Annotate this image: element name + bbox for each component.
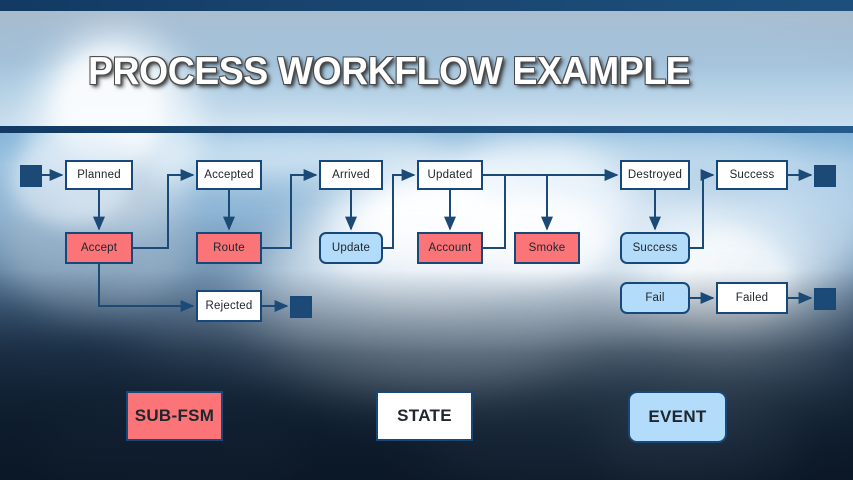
node-planned[interactable]: Planned — [65, 160, 133, 190]
node-updated[interactable]: Updated — [417, 160, 483, 190]
start-terminal[interactable] — [20, 165, 42, 187]
node-arrived[interactable]: Arrived — [319, 160, 383, 190]
end-terminal-rejected[interactable] — [290, 296, 312, 318]
node-fail-event[interactable]: Fail — [620, 282, 690, 314]
node-update[interactable]: Update — [319, 232, 383, 264]
node-failed-state[interactable]: Failed — [716, 282, 788, 314]
end-terminal-success[interactable] — [814, 165, 836, 187]
node-success-event[interactable]: Success — [620, 232, 690, 264]
node-route[interactable]: Route — [196, 232, 262, 264]
node-account[interactable]: Account — [417, 232, 483, 264]
node-smoke[interactable]: Smoke — [514, 232, 580, 264]
end-terminal-failed[interactable] — [814, 288, 836, 310]
legend-item-event[interactable]: EVENT — [628, 391, 727, 443]
node-success-state[interactable]: Success — [716, 160, 788, 190]
node-accepted[interactable]: Accepted — [196, 160, 262, 190]
slide-canvas: PROCESS WORKFLOW EXAMPLE — [0, 0, 853, 480]
node-accept[interactable]: Accept — [65, 232, 133, 264]
node-destroyed[interactable]: Destroyed — [620, 160, 690, 190]
node-rejected[interactable]: Rejected — [196, 290, 262, 322]
legend-item-state[interactable]: STATE — [376, 391, 473, 441]
legend-item-sub-fsm[interactable]: SUB-FSM — [126, 391, 223, 441]
